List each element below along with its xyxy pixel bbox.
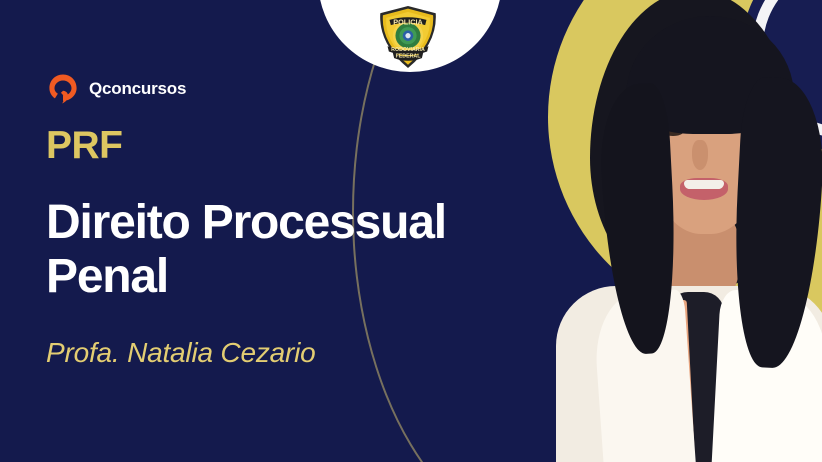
qconcursos-q-logo-icon [46,72,80,106]
brand-name: Qconcursos [89,79,186,99]
portrait-teeth [684,180,724,189]
prf-police-badge-icon: POLICIA RODOVIARIA FEDERAL [375,4,441,70]
portrait-nose [692,140,708,170]
course-slide: POLICIA RODOVIARIA FEDERAL [0,0,822,462]
brand-lockup: Qconcursos [46,72,186,106]
svg-text:FEDERAL: FEDERAL [396,53,422,59]
professor-portrait [540,0,822,462]
exam-label: PRF [46,126,123,165]
teacher-name: Profa. Natalia Cezario [46,337,316,369]
page-title: Direito Processual Penal [46,196,516,304]
svg-text:POLICIA: POLICIA [393,17,423,26]
svg-text:RODOVIARIA: RODOVIARIA [391,47,425,53]
